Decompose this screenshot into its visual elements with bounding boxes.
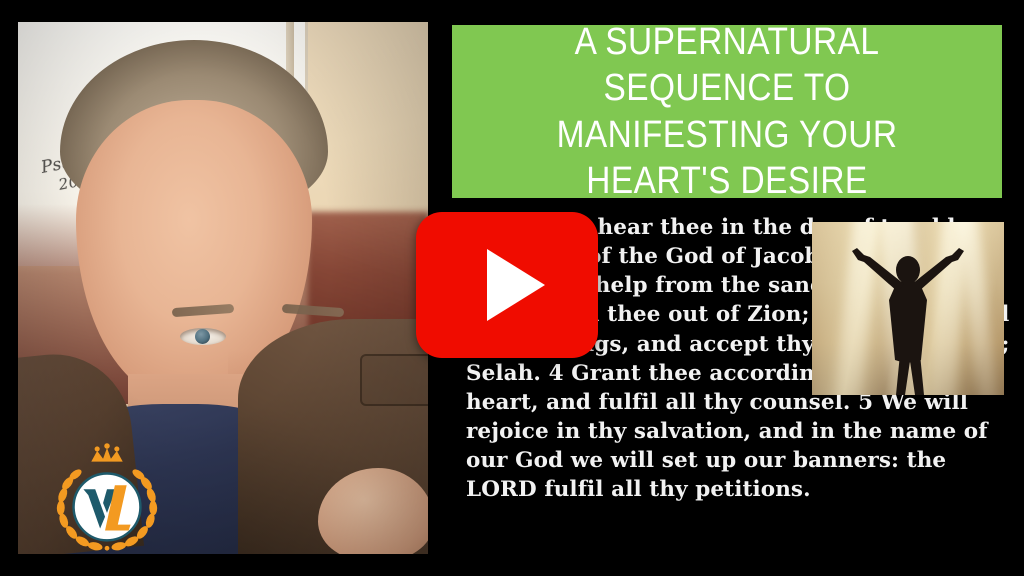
iris-left [195, 329, 210, 344]
jacket-pocket [360, 354, 428, 406]
speaker-brow-right [282, 304, 344, 317]
raised-arms-silhouette [812, 222, 1004, 395]
speaker-eye-left [180, 328, 226, 345]
speaker-brow-left [172, 304, 234, 317]
play-triangle-icon [487, 249, 545, 321]
play-button[interactable] [416, 212, 598, 358]
video-title-banner: A SUPERNATURAL SEQUENCE TO MANIFESTING Y… [452, 25, 1002, 198]
video-title-text: A SUPERNATURAL SEQUENCE TO MANIFESTING Y… [496, 19, 959, 204]
victory-life-logo [48, 440, 166, 554]
praise-silhouette-image [812, 222, 1004, 395]
video-preview-frame[interactable]: Psalm 20:1 [18, 22, 428, 554]
video-player-stage: Psalm 20:1 [0, 0, 1024, 576]
